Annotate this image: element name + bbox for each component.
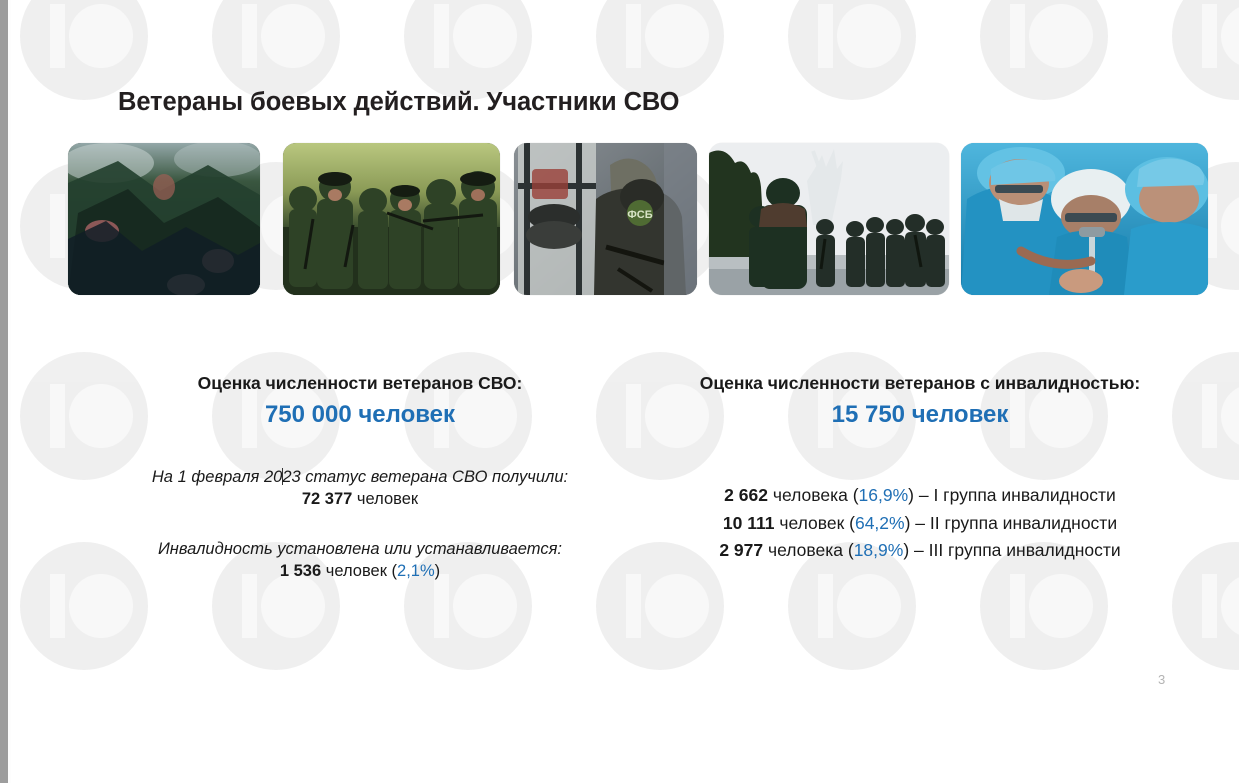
page-number: 3 — [1158, 672, 1165, 687]
stat-value-veterans-total: 750 000 человек — [110, 401, 610, 429]
detail-list-left: На 1 февраля 2023 статус ветерана СВО по… — [110, 466, 610, 610]
group-1-count: 2 662 — [724, 485, 768, 505]
stat-value-veterans-disabled: 15 750 человек — [640, 401, 1200, 429]
group-3-count: 2 977 — [719, 540, 763, 560]
svg-text:ФСБ: ФСБ — [627, 209, 652, 221]
detail-head-status: На 1 февраля 2023 статус ветерана СВО по… — [110, 466, 610, 488]
group-2-percent: 64,2% — [855, 513, 905, 533]
detail-head-disability: Инвалидность установлена или устанавлива… — [110, 538, 610, 560]
detail-value-status-unit: человек — [352, 490, 418, 508]
detail-head-status-after: 23 статус ветерана СВО получили: — [282, 468, 568, 486]
photo-surgeons-operating — [961, 143, 1208, 295]
adjacent-slide-edge — [0, 0, 8, 783]
adjacent-slide-edge-highlight — [8, 0, 11, 783]
group-3-percent: 18,9% — [854, 540, 904, 560]
photo-strip: ФСБ — [68, 143, 1208, 295]
detail-value-disability-tail: ) — [435, 562, 441, 580]
detail-value-disability: 1 536 человек (2,1%) — [110, 560, 610, 584]
group-2-unit: человек ( — [775, 513, 855, 533]
detail-value-disability-unit: человек ( — [321, 562, 397, 580]
detail-value-disability-count: 1 536 — [280, 562, 321, 580]
slide-content: Ветераны боевых действий. Участники СВО — [0, 0, 1239, 783]
group-1-tail: ) – I группа инвалидности — [908, 485, 1116, 505]
detail-value-disability-percent: 2,1% — [397, 562, 435, 580]
stat-label-veterans-disabled: Оценка численности ветеранов с инвалидно… — [640, 372, 1200, 394]
stat-block-veterans-disabled: Оценка численности ветеранов с инвалидно… — [640, 372, 1200, 429]
detail-value-status: 72 377 человек — [110, 488, 610, 512]
group-1-percent: 16,9% — [859, 485, 909, 505]
page-title: Ветераны боевых действий. Участники СВО — [118, 88, 679, 117]
group-1-unit: человека ( — [768, 485, 859, 505]
disability-group-list: 2 662 человека (16,9%) – I группа инвали… — [640, 482, 1200, 565]
group-3-tail: ) – III группа инвалидности — [903, 540, 1120, 560]
detail-head-status-before: На 1 февраля 20 — [152, 468, 282, 486]
detail-group-status: На 1 февраля 2023 статус ветерана СВО по… — [110, 466, 610, 512]
disability-group-row-3: 2 977 человека (18,9%) – III группа инва… — [640, 537, 1200, 565]
disability-group-row-2: 10 111 человек (64,2%) – II группа инвал… — [640, 510, 1200, 538]
detail-value-status-count: 72 377 — [302, 490, 352, 508]
detail-group-disability: Инвалидность установлена или устанавлива… — [110, 538, 610, 584]
presentation-slide: Ветераны боевых действий. Участники СВО — [0, 0, 1239, 783]
stat-label-veterans-total: Оценка численности ветеранов СВО: — [110, 372, 610, 394]
photo-squad-marching — [283, 143, 500, 295]
group-2-tail: ) – II группа инвалидности — [905, 513, 1118, 533]
group-3-unit: человека ( — [763, 540, 854, 560]
group-2-count: 10 111 — [723, 513, 775, 533]
photo-camouflage-soldiers — [68, 143, 260, 295]
stat-block-veterans-total: Оценка численности ветеранов СВО: 750 00… — [110, 372, 610, 429]
photo-fsb-operative: ФСБ — [514, 143, 697, 295]
disability-group-row-1: 2 662 человека (16,9%) – I группа инвали… — [640, 482, 1200, 510]
photo-troops-monument — [709, 143, 949, 295]
